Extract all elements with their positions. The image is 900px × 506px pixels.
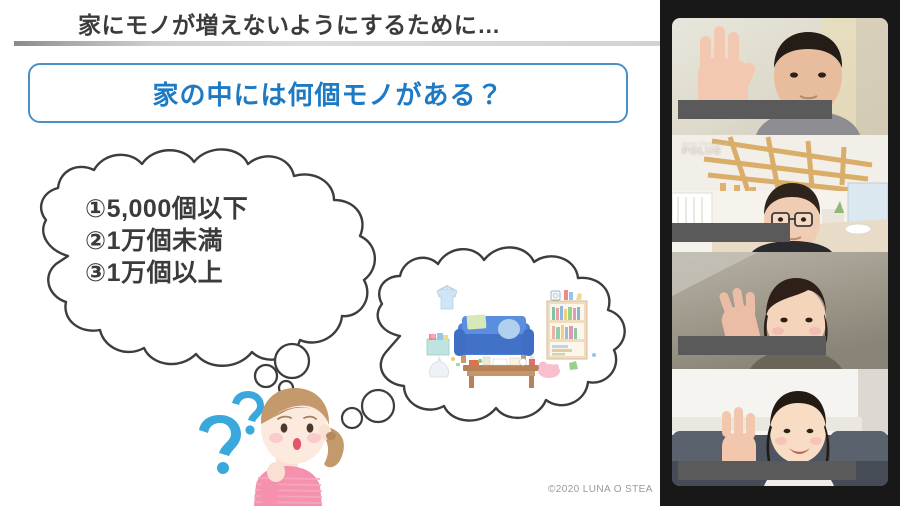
participant-name-redacted: [672, 223, 790, 242]
sofa-icon: [454, 314, 534, 363]
video-tile-participant-2[interactable]: SMART RESIDENCEPOLUS: [672, 135, 888, 252]
question-text: 家の中には何個モノがある？: [152, 75, 503, 112]
video-tile-participant-1[interactable]: [672, 18, 888, 135]
participant-name-redacted: [678, 461, 856, 480]
hanging-shirt-icon: [437, 285, 457, 309]
page-title: 家にモノが増えないようにするために…: [78, 6, 501, 40]
bean-bag-icon: [429, 357, 448, 377]
video-participant-panel: SMART RESIDENCEPOLUS: [660, 0, 900, 506]
title-divider: [14, 41, 660, 46]
toy-box-icon: [427, 333, 449, 355]
presentation-slide: 家にモノが増えないようにするために… 家の中には何個モノがある？ ①5,000個…: [0, 0, 660, 506]
bookshelf-icon: [547, 290, 587, 359]
video-tile-participant-4[interactable]: [672, 369, 888, 486]
slide-screen: 家にモノが増えないようにするために… 家の中には何個モノがある？ ①5,000個…: [0, 0, 900, 506]
messy-room-illustration: [425, 277, 600, 392]
participant-name-redacted: [678, 100, 832, 119]
copyright-notice: ©2020 LUNA O STEA: [548, 484, 653, 495]
video-tile-participant-3-active-speaker[interactable]: [672, 252, 888, 369]
polus-watermark: SMART RESIDENCEPOLUS: [682, 141, 728, 157]
participant-name-redacted: [678, 336, 826, 355]
option-item: ①5,000個以下: [85, 193, 385, 225]
stuffed-toy-icon: [538, 362, 560, 379]
puzzled-woman-illustration: [190, 378, 370, 506]
low-table-icon: [463, 357, 539, 388]
question-box: 家の中には何個モノがある？: [28, 63, 628, 123]
